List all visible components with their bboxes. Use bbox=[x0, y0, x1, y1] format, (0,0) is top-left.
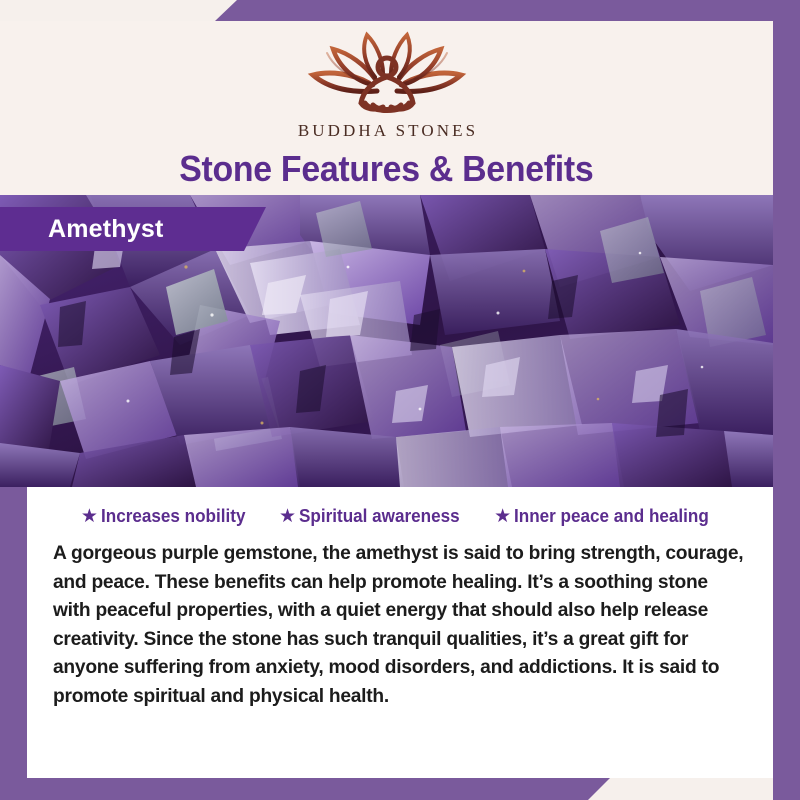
stone-name-banner: Amethyst bbox=[0, 207, 266, 251]
frame-border-right bbox=[773, 0, 800, 800]
star-icon: ★ bbox=[494, 507, 511, 526]
brand-wordmark: BUDDHA STONES bbox=[295, 121, 478, 141]
page-title: Stone Features & Benefits bbox=[179, 148, 593, 190]
star-icon: ★ bbox=[279, 507, 296, 526]
benefit-item: ★ Increases nobility bbox=[81, 506, 253, 527]
star-icon: ★ bbox=[81, 507, 98, 526]
lotus-meditation-icon bbox=[299, 27, 475, 119]
benefit-label: Spiritual awareness bbox=[299, 506, 460, 527]
stone-name-label: Amethyst bbox=[0, 215, 164, 244]
header: BUDDHA STONES Stone Features & Benefits bbox=[0, 21, 773, 195]
stone-description: A gorgeous purple gemstone, the amethyst… bbox=[49, 540, 751, 712]
brand-logo: BUDDHA STONES bbox=[262, 27, 512, 141]
benefit-label: Inner peace and healing bbox=[514, 506, 709, 527]
benefits-list: ★ Increases nobility ★ Spiritual awarene… bbox=[49, 506, 751, 527]
frame-border-left bbox=[0, 487, 27, 800]
benefit-item: ★ Spiritual awareness bbox=[279, 506, 468, 527]
frame-accent-bar-top bbox=[215, 0, 800, 21]
benefit-item: ★ Inner peace and healing bbox=[494, 506, 719, 527]
frame-accent-bar-bottom bbox=[0, 778, 610, 800]
content-panel: ★ Increases nobility ★ Spiritual awarene… bbox=[27, 487, 773, 778]
benefit-label: Increases nobility bbox=[101, 506, 245, 527]
